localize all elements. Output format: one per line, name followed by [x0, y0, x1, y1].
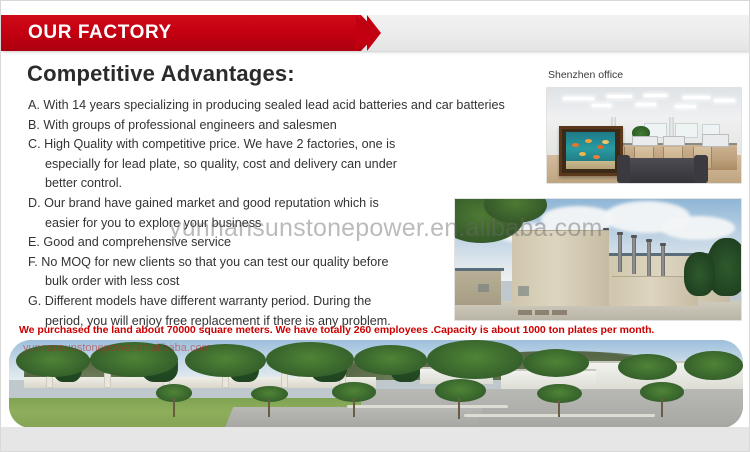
- banner-title: OUR FACTORY: [28, 15, 172, 51]
- footer-strip: [1, 427, 750, 451]
- building-window: [518, 286, 529, 296]
- list-item: B. With groups of professional engineers…: [28, 116, 538, 136]
- leafy-tree: [185, 344, 266, 377]
- page-title: Competitive Advantages:: [27, 61, 295, 87]
- factory-building-photo: [454, 198, 742, 321]
- pallet-stack: [518, 310, 532, 315]
- fish-icon: [585, 139, 592, 143]
- ceiling-light-icon: [675, 105, 696, 108]
- list-item-text-line3: better control.: [28, 174, 538, 194]
- leafy-tree: [90, 342, 178, 377]
- sapling-trunk: [458, 398, 460, 419]
- office-printer: [632, 136, 657, 147]
- sapling-trunk: [353, 398, 355, 417]
- curb: [347, 405, 508, 408]
- exhaust-stack: [618, 232, 622, 272]
- side-building-roof: [455, 268, 504, 271]
- leafy-tree: [266, 342, 354, 377]
- list-item-letter: B.: [28, 118, 40, 132]
- sofa-arm: [617, 155, 631, 184]
- sapling-trunk: [173, 398, 175, 417]
- fish-icon: [593, 155, 600, 159]
- aquarium-sand: [566, 161, 615, 169]
- list-item-text-line2: especially for lead plate, so quality, c…: [28, 155, 538, 175]
- list-item-text: Our brand have gained market and good re…: [44, 196, 379, 210]
- fish-icon: [572, 143, 579, 147]
- list-item-text: With groups of professional engineers an…: [43, 118, 336, 132]
- office-photo-label: Shenzhen office: [548, 69, 623, 81]
- exhaust-stack: [647, 239, 651, 277]
- ceiling-light-icon: [563, 97, 594, 100]
- list-item-letter: E.: [28, 235, 40, 249]
- office-sofa: [621, 158, 706, 183]
- leafy-tree: [523, 349, 589, 377]
- building-window: [478, 284, 489, 292]
- wall-post: [281, 373, 288, 387]
- ceiling-light-icon: [607, 95, 632, 98]
- list-item-letter: A.: [28, 98, 40, 112]
- leafy-tree: [684, 351, 743, 381]
- office-printer: [663, 136, 684, 146]
- factory-page: OUR FACTORY Competitive Advantages: A. W…: [0, 0, 750, 452]
- list-item-text: No MOQ for new clients so that you can t…: [41, 255, 388, 269]
- ceiling-light-icon: [683, 96, 710, 99]
- list-item-letter: F.: [28, 255, 38, 269]
- sapling-trunk: [268, 398, 270, 417]
- ceiling-light-icon: [644, 94, 667, 97]
- list-item-letter: D.: [28, 196, 41, 210]
- ceiling-light-icon: [714, 99, 735, 102]
- cloud: [661, 216, 735, 240]
- sapling-trunk: [661, 398, 663, 417]
- fish-icon: [602, 140, 609, 144]
- aquarium-artwork-image: [566, 132, 615, 169]
- sofa-arm: [694, 155, 708, 184]
- section-banner: OUR FACTORY: [1, 15, 750, 51]
- fish-icon: [597, 145, 604, 149]
- campus-panorama-photo: [9, 340, 743, 428]
- sapling-trunk: [558, 400, 560, 418]
- list-item-text: Good and comprehensive service: [43, 235, 231, 249]
- red-highlight-note: We purchased the land about 70000 square…: [19, 324, 654, 336]
- list-item-text: High Quality with competitive price. We …: [44, 137, 395, 151]
- ceiling-light-icon: [636, 103, 655, 106]
- exhaust-stack: [632, 235, 636, 274]
- aquarium-artwork-frame: [559, 126, 623, 176]
- sapling: [435, 379, 486, 402]
- chevron-right-icon-2: [367, 15, 381, 51]
- list-item-letter: G.: [28, 294, 41, 308]
- office-printer: [702, 134, 729, 147]
- office-photo: [546, 87, 742, 184]
- list-item: C. High Quality with competitive price. …: [28, 135, 538, 194]
- wall-post: [104, 373, 111, 387]
- list-item: A. With 14 years specializing in produci…: [28, 96, 538, 116]
- pallet-stack: [535, 310, 549, 315]
- pallet-stack: [552, 310, 566, 315]
- background-tree: [684, 252, 715, 296]
- list-item-text: With 14 years specializing in producing …: [43, 98, 504, 112]
- leafy-tree: [16, 345, 89, 377]
- exhaust-stack: [661, 243, 665, 279]
- fish-icon: [579, 152, 586, 156]
- leafy-tree: [427, 340, 522, 379]
- list-item-letter: C.: [28, 137, 41, 151]
- ceiling-light-icon: [592, 104, 611, 107]
- list-item-text: Different models have different warranty…: [45, 294, 371, 308]
